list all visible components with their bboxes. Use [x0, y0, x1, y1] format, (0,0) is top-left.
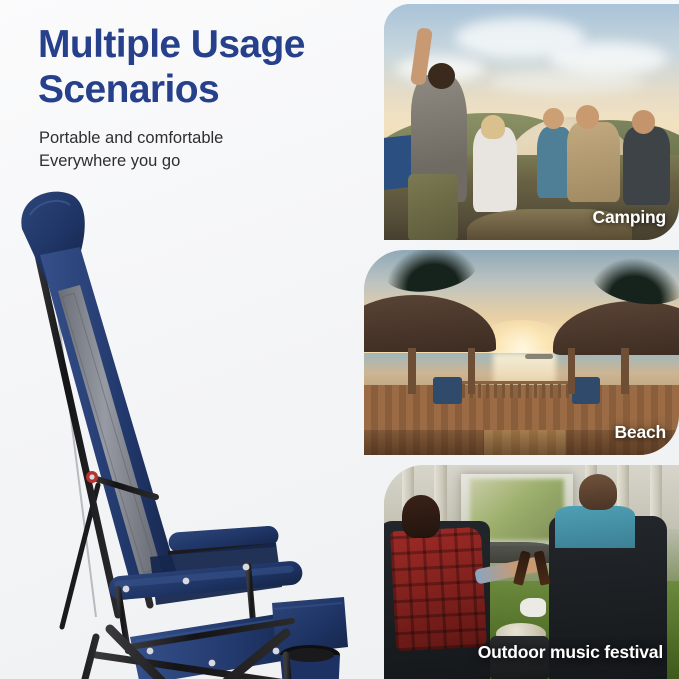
chair-svg — [0, 185, 400, 679]
scenario-card-festival[interactable]: Outdoor music festival — [384, 465, 679, 679]
plaid-blanket — [390, 527, 488, 651]
card-label-beach: Beach — [614, 422, 666, 443]
boat-silhouette — [525, 354, 553, 359]
page-subtitle: Portable and comfortable Everywhere you … — [39, 127, 369, 174]
page-title: Multiple Usage Scenarios — [38, 22, 383, 112]
scenario-card-camping[interactable]: Camping — [384, 4, 679, 240]
headline-line-1: Multiple Usage — [38, 22, 383, 67]
left-column: Multiple Usage Scenarios Portable and co… — [0, 0, 400, 679]
scenario-card-beach[interactable]: Beach — [364, 250, 679, 455]
camping-photo — [384, 4, 679, 240]
scenario-card-stack: Camping — [364, 0, 679, 679]
headline-line-2: Scenarios — [38, 67, 383, 112]
subhead-line-2: Everywhere you go — [39, 150, 369, 173]
product-feature-poster: Multiple Usage Scenarios Portable and co… — [0, 0, 679, 679]
card-label-festival: Outdoor music festival — [478, 642, 663, 663]
subhead-line-1: Portable and comfortable — [39, 127, 369, 150]
product-image-camping-chair — [0, 185, 400, 679]
card-label-camping: Camping — [593, 207, 666, 228]
chair-back-panel — [40, 247, 178, 589]
